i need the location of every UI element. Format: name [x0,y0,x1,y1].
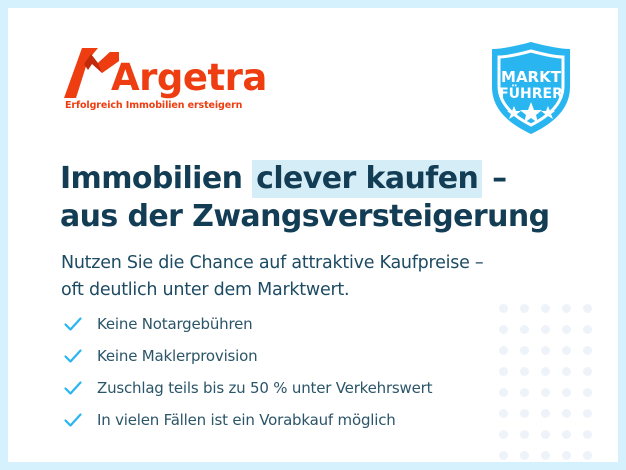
logo-wordmark: Argetra [111,59,267,96]
check-icon [63,410,83,430]
dot [541,430,550,439]
dot [583,430,592,439]
dot [499,346,508,355]
dot [499,388,508,397]
subtitle-line-2: oft deutlich unter dem Marktwert. [61,280,349,300]
decorative-dot-grid [499,304,604,462]
headline-line-2: aus der Zwangsversteigerung [60,199,550,234]
dot [520,304,529,313]
dot [520,430,529,439]
dot [499,409,508,418]
dot [520,451,529,460]
dot [562,367,571,376]
dot [562,430,571,439]
list-item: In vielen Fällen ist ein Vorabkauf mögli… [63,404,432,436]
list-item-label: Keine Maklerprovision [97,347,257,365]
list-item: Keine Maklerprovision [63,340,432,372]
dot [520,409,529,418]
headline-after: – [482,161,506,196]
check-icon [63,346,83,366]
logo-tagline: Erfolgreich Immobilien ersteigern [65,100,277,111]
dot [499,451,508,460]
dot [583,346,592,355]
dot [541,367,550,376]
subtitle-line-1: Nutzen Sie die Chance auf attraktive Kau… [61,253,483,273]
list-item-label: Keine Notargebühren [97,315,252,333]
dot [583,451,592,460]
headline-line-1: Immobilien clever kaufen – [60,160,507,198]
dot [499,325,508,334]
dot [583,367,592,376]
dot [520,367,529,376]
dot [541,325,550,334]
dot [520,346,529,355]
dot [583,388,592,397]
headline-before: Immobilien [60,161,252,196]
list-item: Zuschlag teils bis zu 50 % unter Verkehr… [63,372,432,404]
list-item-label: Zuschlag teils bis zu 50 % unter Verkehr… [97,379,432,397]
dot [541,451,550,460]
benefits-checklist: Keine NotargebührenKeine Maklerprovision… [63,308,432,436]
dot [520,325,529,334]
check-icon [63,314,83,334]
argetra-logo[interactable]: Argetra Erfolgreich Immobilien ersteiger… [64,48,277,111]
promo-banner: Argetra Erfolgreich Immobilien ersteiger… [0,0,626,470]
dot [541,388,550,397]
dot [562,451,571,460]
list-item-label: In vielen Fällen ist ein Vorabkauf mögli… [97,411,396,429]
dot [583,409,592,418]
dot [583,325,592,334]
badge-line2-text: FÜHRER [499,84,563,102]
market-leader-badge: MARKT FÜHRER [486,40,576,136]
dot [541,304,550,313]
dot [541,346,550,355]
dot [562,346,571,355]
page-title: Immobilien clever kaufen – aus der Zwang… [60,160,550,236]
check-icon [63,378,83,398]
dot [583,304,592,313]
headline-highlight: clever kaufen [252,160,482,198]
dot [499,367,508,376]
dot [520,388,529,397]
promo-card: Argetra Erfolgreich Immobilien ersteiger… [8,8,618,462]
logo-row: Argetra [64,48,277,98]
dot [499,430,508,439]
dot [562,409,571,418]
list-item: Keine Notargebühren [63,308,432,340]
dot [499,304,508,313]
subtitle: Nutzen Sie die Chance auf attraktive Kau… [61,250,483,304]
dot [562,304,571,313]
dot [541,409,550,418]
badge-line1-text: MARKT [501,68,562,86]
dot [562,388,571,397]
dot [562,325,571,334]
